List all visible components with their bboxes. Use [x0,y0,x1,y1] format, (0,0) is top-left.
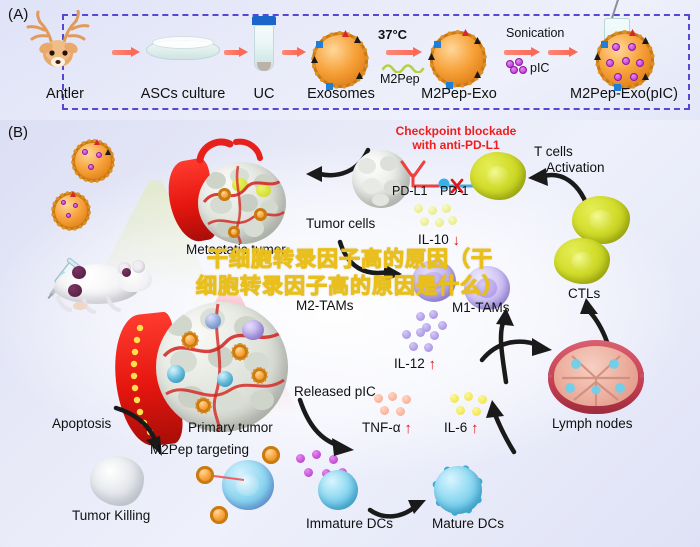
label-il-10: IL-10 ↓ [418,232,460,248]
label-mature-dcs: Mature DCs [432,516,504,531]
label-il-12: IL-12 ↑ [394,356,436,372]
pic-label: pIC [530,61,549,75]
exosome-particle [262,446,280,464]
exosome-icon [312,32,368,88]
exosome-particle [210,506,228,524]
m2pep-label: M2Pep [380,72,420,86]
label-tumor-killing: Tumor Killing [72,508,150,523]
label-pd-1: PD-1 [440,184,468,198]
process-arrow [224,47,248,57]
checkpoint-line-2: with anti-PD-L1 [412,138,499,152]
ctl-cell-icon [554,238,610,284]
process-arrow [282,47,306,57]
panel-b: (B) [0,120,700,547]
il-10-change: ↓ [453,233,461,248]
stage-caption-uc: UC [236,86,292,102]
label-ctls: CTLs [568,286,600,301]
stage-caption-m2pep-exo-pic: M2Pep-Exo(pIC) [556,86,692,102]
label-t-cells: T cells [534,144,573,159]
tnf-alpha-cytokine-dots [372,392,416,420]
label-pd-l1: PD-L1 [392,184,427,198]
loaded-exosome-icon [596,31,654,89]
label-tumor-cells: Tumor cells [306,216,375,231]
arrow-to-m2-tams [336,238,414,284]
il-10-name: IL-10 [418,232,449,247]
label-apoptosis: Apoptosis [52,416,111,431]
label-lymph-nodes: Lymph nodes [552,416,633,431]
tnf-alpha-name: TNF-α [362,420,401,435]
petri-dish-icon [146,36,220,62]
checkpoint-line-1: Checkpoint blockade [396,124,517,138]
stage-caption-asc-culture: ASCs culture [128,86,238,102]
il-12-change: ↑ [429,357,437,372]
label-checkpoint-blockade: Checkpoint blockade with anti-PD-L1 [376,125,536,153]
scientific-figure: (A) [0,0,700,547]
stage-caption-exosomes: Exosomes [300,86,382,102]
temperature-label: 37°C [378,27,407,42]
deer-icon [22,10,108,68]
tnf-alpha-change: ↑ [404,421,412,436]
metastatic-tumor-icon [184,146,296,248]
centrifuge-tube-icon [252,16,276,78]
peptide-exosome-icon [430,31,486,87]
panel-a: (A) [0,0,700,120]
stage-caption-antler: Antler [22,86,108,102]
m2-tam-macrophage-icon [412,260,456,302]
targeting-link [210,468,254,488]
label-activation: Activation [546,160,605,175]
il-12-cytokine-dots [400,328,444,356]
il-10-cytokine-dots [412,204,458,232]
exosome-particle [52,192,90,230]
panel-b-label: (B) [8,124,28,141]
process-arrow [386,47,422,57]
pic-dots-icon [506,58,526,74]
apoptotic-cell-icon [90,456,144,506]
sonication-label: Sonication [506,26,564,40]
il-12-name: IL-12 [394,356,425,371]
immature-dc-icon [306,458,370,522]
exosome-particle [72,140,114,182]
ctl-cell-icon [572,196,630,244]
process-arrow [548,47,578,57]
label-tnf-alpha: TNF-α ↑ [362,420,412,436]
lymph-node-icon [548,340,644,414]
stage-caption-m2pep-exo: M2Pep-Exo [408,86,510,102]
process-arrow [112,47,140,57]
label-primary-tumor: Primary tumor [188,420,273,435]
label-metastatic-tumor: Metastatic tumor [186,242,286,257]
label-m2-tams: M2-TAMs [296,298,354,313]
process-arrow [504,47,540,57]
arrow-dc-to-cytokines [462,394,552,458]
